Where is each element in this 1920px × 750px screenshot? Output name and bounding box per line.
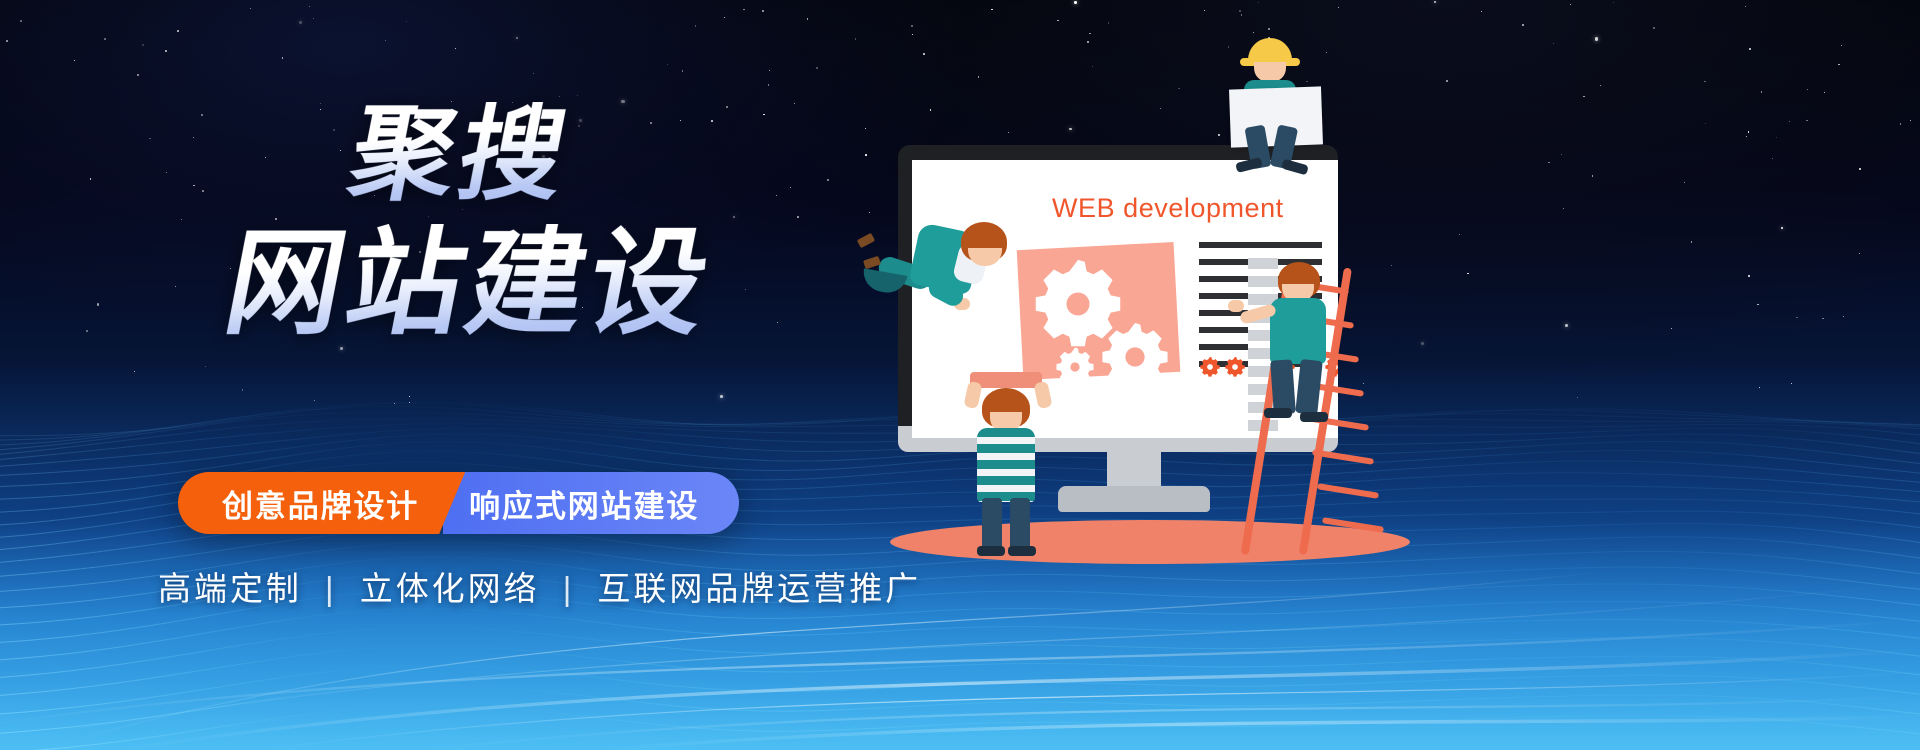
tagline-part-2: 立体化网络	[360, 570, 540, 607]
tagline-separator-2: |	[552, 570, 586, 607]
gear-medium-icon	[1098, 320, 1172, 394]
hero-banner: 聚搜 网站建设 创意品牌设计 响应式网站建设 高端定制 | 立体化网络 | 互联…	[0, 0, 1920, 750]
pill-creative-brand-design[interactable]: 创意品牌设计	[178, 472, 465, 534]
headline-line-2: 网站建设	[217, 224, 723, 342]
copy-block: 聚搜 网站建设 创意品牌设计 响应式网站建设 高端定制 | 立体化网络 | 互联…	[0, 0, 880, 750]
gear-orange-icon	[1199, 356, 1221, 378]
illustration: WEB development	[830, 0, 1920, 750]
feature-pills: 创意品牌设计 响应式网站建设	[178, 472, 739, 534]
tagline-part-1: 高端定制	[158, 570, 302, 607]
text-line	[1199, 242, 1322, 248]
pill-responsive-website[interactable]: 响应式网站建设	[443, 472, 739, 534]
screen-heading: WEB development	[1052, 193, 1284, 224]
monitor-stand-base	[1058, 486, 1210, 512]
headline-line-1: 聚搜	[342, 102, 579, 208]
monitor-stand-neck	[1107, 440, 1161, 492]
gear-small-icon	[1054, 346, 1096, 388]
gear-orange-icon	[1224, 356, 1246, 378]
tagline: 高端定制 | 立体化网络 | 互联网品牌运营推广	[158, 562, 921, 610]
tagline-separator-1: |	[314, 570, 348, 607]
